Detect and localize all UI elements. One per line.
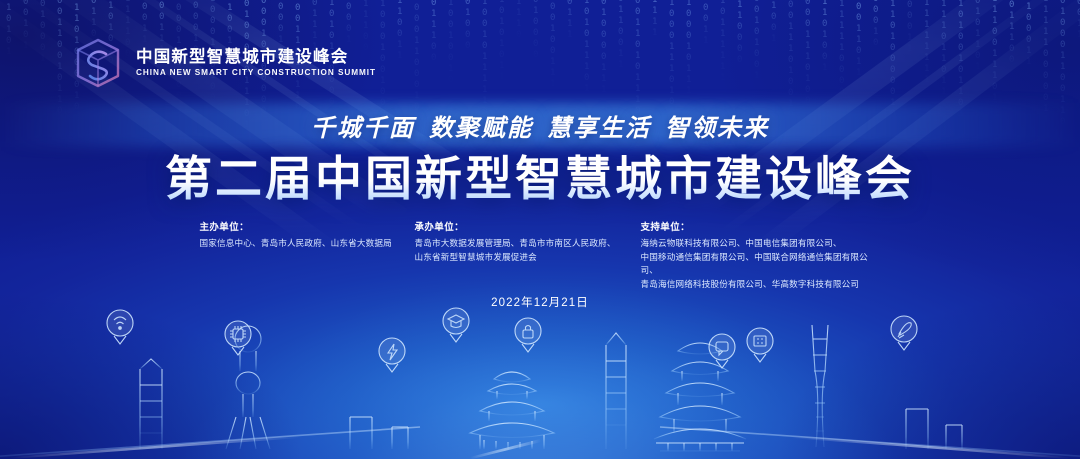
tagline-part-2: 数聚赋能 xyxy=(429,108,533,143)
summit-logo: 中国新型智慧城市建设峰会 CHINA NEW SMART CITY CONSTR… xyxy=(72,36,376,90)
logo-name-cn: 中国新型智慧城市建设峰会 xyxy=(136,49,376,66)
cs-cube-logo-icon xyxy=(72,36,124,90)
tagline-part-1: 千城千面 xyxy=(311,108,415,143)
credit-line: 山东省新型智慧城市发展促进会 xyxy=(415,251,641,265)
tagline-part-3: 慧享生活 xyxy=(547,108,651,143)
credit-column-3: 支持单位：海纳云物联科技有限公司、中国电信集团有限公司、中国移动通信集团有限公司… xyxy=(641,219,881,291)
credit-line: 青岛海信网络科技股份有限公司、华高数字科技有限公司 xyxy=(641,278,881,292)
credit-line: 海纳云物联科技有限公司、中国电信集团有限公司、 xyxy=(641,237,881,251)
credit-line: 青岛市大数据发展管理局、青岛市市南区人民政府、 xyxy=(415,237,641,251)
credit-heading: 支持单位： xyxy=(641,219,881,233)
event-tagline: 千城千面数聚赋能慧享生活智领未来 xyxy=(0,108,1080,143)
credit-line: 中国移动通信集团有限公司、中国联合网络通信集团有限公司、 xyxy=(641,251,881,278)
page-title: 第二届中国新型智慧城市建设峰会 xyxy=(0,150,1080,209)
credit-column-1: 主办单位：国家信息中心、青岛市人民政府、山东省大数据局 xyxy=(200,219,415,291)
city-skyline-decor xyxy=(0,299,1080,459)
summit-poster: 1 0 1 0 1 0 0 1 0 1 0 1 0 0 0 1 0 0 1 1 … xyxy=(0,0,1080,459)
credit-heading: 主办单位： xyxy=(200,219,415,233)
credit-line: 国家信息中心、青岛市人民政府、山东省大数据局 xyxy=(200,237,415,251)
tagline-part-4: 智领未来 xyxy=(665,108,769,143)
credit-heading: 承办单位： xyxy=(415,219,641,233)
logo-name-en: CHINA NEW SMART CITY CONSTRUCTION SUMMIT xyxy=(136,69,376,77)
organizer-credits: 主办单位：国家信息中心、青岛市人民政府、山东省大数据局承办单位：青岛市大数据发展… xyxy=(0,219,1080,291)
credit-column-2: 承办单位：青岛市大数据发展管理局、青岛市市南区人民政府、山东省新型智慧城市发展促… xyxy=(415,219,641,291)
event-date: 2022年12月21日 xyxy=(0,294,1080,310)
